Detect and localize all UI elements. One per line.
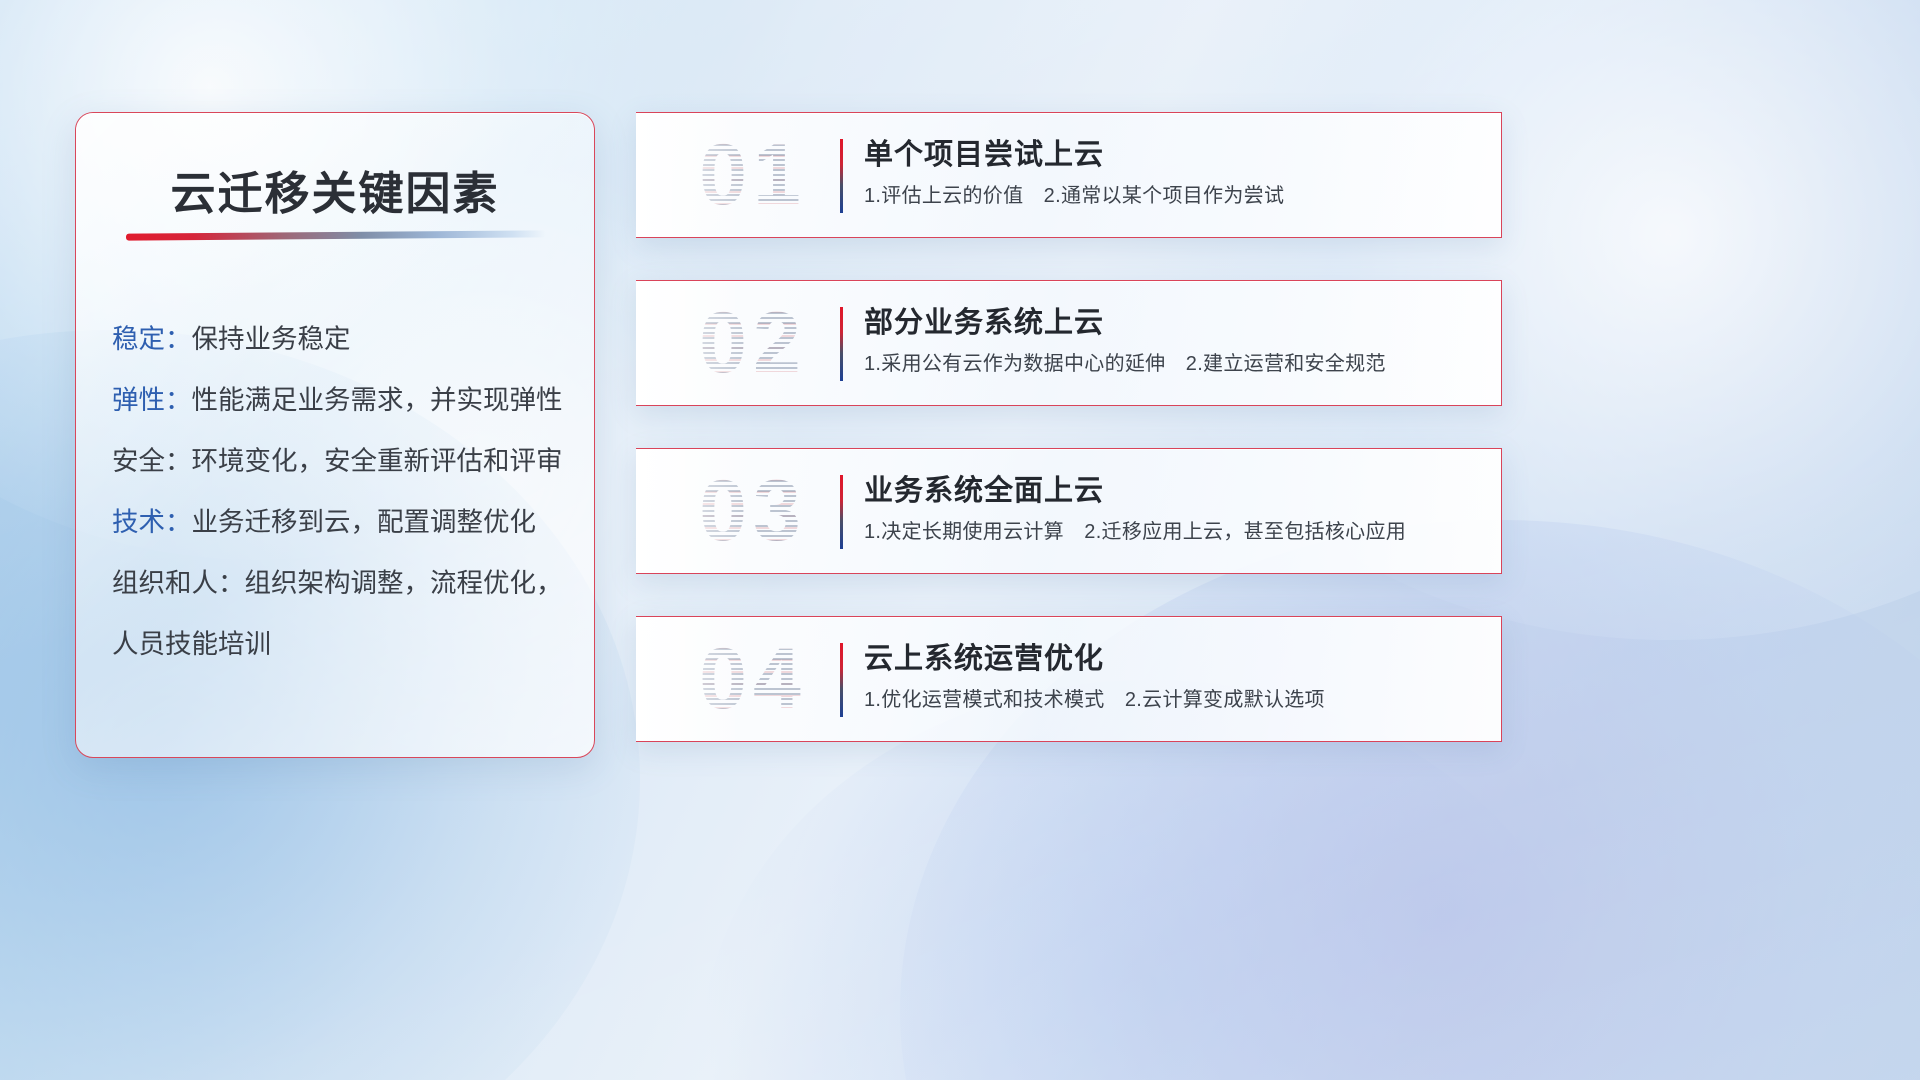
stage-divider-bar bbox=[840, 475, 843, 549]
key-factor-label: 技术： bbox=[112, 507, 192, 537]
key-factor-label: 组织和人： bbox=[112, 568, 245, 598]
key-factor-text: 业务迁移到云，配置调整优化 bbox=[192, 507, 537, 537]
stage-card[interactable]: 0101单个项目尝试上云1.评估上云的价值 2.通常以某个项目作为尝试 bbox=[636, 112, 1502, 238]
stage-subtitle: 1.评估上云的价值 2.通常以某个项目作为尝试 bbox=[864, 179, 1284, 208]
key-factor-text: 保持业务稳定 bbox=[192, 324, 351, 354]
stage-title: 云上系统运营优化 bbox=[864, 635, 1104, 677]
key-factor-label: 稳定： bbox=[112, 324, 192, 354]
stage-card[interactable]: 0202部分业务系统上云1.采用公有云作为数据中心的延伸 2.建立运营和安全规范 bbox=[636, 280, 1502, 406]
key-factors-list: 稳定：保持业务稳定弹性：性能满足业务需求，并实现弹性安全：环境变化，安全重新评估… bbox=[112, 309, 572, 675]
key-factor-text: 人员技能培训 bbox=[112, 629, 271, 659]
panel-title: 云迁移关键因素 bbox=[76, 157, 594, 222]
key-factor-row: 弹性：性能满足业务需求，并实现弹性 bbox=[112, 370, 572, 431]
stage-divider-bar bbox=[840, 139, 843, 213]
stage-number: 01 bbox=[668, 119, 838, 231]
key-factor-label: 弹性： bbox=[112, 385, 192, 415]
key-factor-row: 技术：业务迁移到云，配置调整优化 bbox=[112, 492, 572, 553]
stage-number: 03 bbox=[668, 455, 838, 567]
key-factor-row: 安全：环境变化，安全重新评估和评审 bbox=[112, 431, 572, 492]
stage-divider-bar bbox=[840, 307, 843, 381]
key-factor-row: 组织和人：组织架构调整，流程优化， bbox=[112, 553, 572, 614]
stage-subtitle: 1.优化运营模式和技术模式 2.云计算变成默认选项 bbox=[864, 683, 1325, 712]
stage-number: 04 bbox=[668, 623, 838, 735]
stage-card[interactable]: 0404云上系统运营优化1.优化运营模式和技术模式 2.云计算变成默认选项 bbox=[636, 616, 1502, 742]
title-underline-gradient bbox=[126, 230, 546, 240]
key-factors-panel: 云迁移关键因素 稳定：保持业务稳定弹性：性能满足业务需求，并实现弹性安全：环境变… bbox=[75, 112, 595, 758]
slide-stage: 云迁移关键因素 稳定：保持业务稳定弹性：性能满足业务需求，并实现弹性安全：环境变… bbox=[0, 0, 1920, 1080]
stage-title: 部分业务系统上云 bbox=[864, 299, 1104, 341]
key-factor-label: 安全： bbox=[112, 446, 192, 476]
key-factor-row: 稳定：保持业务稳定 bbox=[112, 309, 572, 370]
stage-number: 02 bbox=[668, 287, 838, 399]
key-factor-row: 人员技能培训 bbox=[112, 614, 572, 675]
migration-stage-cards: 0101单个项目尝试上云1.评估上云的价值 2.通常以某个项目作为尝试0202部… bbox=[636, 112, 1502, 784]
stage-subtitle: 1.采用公有云作为数据中心的延伸 2.建立运营和安全规范 bbox=[864, 347, 1386, 376]
key-factor-text: 组织架构调整，流程优化， bbox=[245, 568, 563, 598]
stage-title: 业务系统全面上云 bbox=[864, 467, 1104, 509]
key-factor-text: 性能满足业务需求，并实现弹性 bbox=[192, 385, 563, 415]
stage-title: 单个项目尝试上云 bbox=[864, 131, 1104, 173]
key-factor-text: 环境变化，安全重新评估和评审 bbox=[192, 446, 563, 476]
stage-card[interactable]: 0303业务系统全面上云1.决定长期使用云计算 2.迁移应用上云，甚至包括核心应… bbox=[636, 448, 1502, 574]
stage-divider-bar bbox=[840, 643, 843, 717]
stage-subtitle: 1.决定长期使用云计算 2.迁移应用上云，甚至包括核心应用 bbox=[864, 515, 1406, 544]
